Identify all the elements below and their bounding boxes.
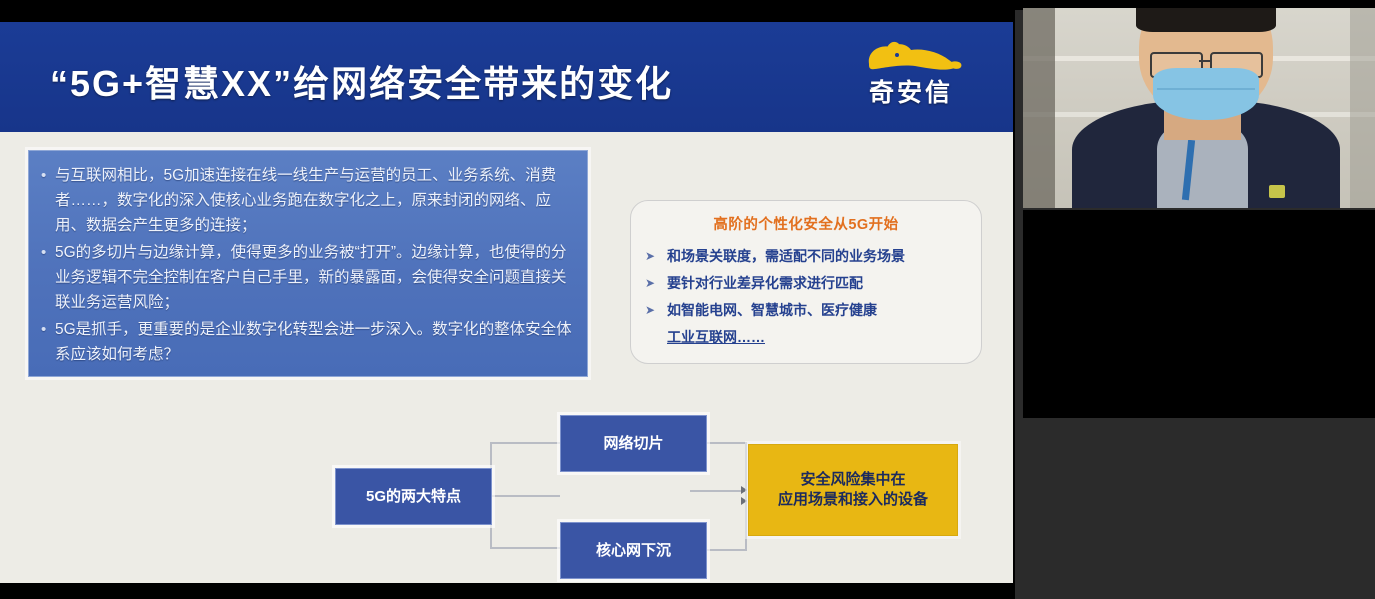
face-mask — [1153, 68, 1259, 120]
flow-node-root: 5G的两大特点 — [335, 468, 492, 525]
connector-line — [490, 442, 562, 444]
video-participants-panel — [1015, 0, 1375, 599]
participant-video-tile[interactable] — [1023, 8, 1375, 208]
text-block-bullet: • 5G是抓手，更重要的是企业数字化转型会进一步深入。数字化的整体安全体系应该如… — [41, 317, 573, 367]
arrowhead-icon — [741, 486, 747, 494]
info-card-item: ➤ 和场景关联度，需适配不同的业务场景 — [645, 243, 967, 270]
connector-line — [490, 547, 562, 549]
text-block-bullet: • 5G的多切片与边缘计算，使得更多的业务被“打开”。边缘计算，也使得的分业务逻… — [41, 240, 573, 315]
person-badge — [1269, 185, 1285, 198]
slide-flowchart: 5G的两大特点 网络切片 核心网下沉 安全风险集中在 应用场景和接入的设备 — [0, 402, 1013, 583]
connector-line — [490, 495, 560, 497]
company-logo: 奇安信 — [851, 34, 971, 126]
face-mask-fold — [1157, 88, 1256, 90]
meeting-screen: “5G+智慧XX”给网络安全带来的变化 奇安信 • 与互联网相比，5G加速连接在… — [0, 0, 1375, 599]
slide-header-bar: “5G+智慧XX”给网络安全带来的变化 奇安信 — [0, 22, 1013, 132]
flow-node-network-slicing: 网络切片 — [560, 415, 707, 472]
info-card: 高阶的个性化安全从5G开始 ➤ 和场景关联度，需适配不同的业务场景 ➤ 要针对行… — [630, 200, 982, 364]
info-card-item: ➤ 要针对行业差异化需求进行匹配 — [645, 270, 967, 297]
arrow-right-icon: ➤ — [645, 270, 667, 297]
arrowhead-icon — [741, 497, 747, 505]
mascot-icon — [857, 38, 965, 78]
presentation-slide: “5G+智慧XX”给网络安全带来的变化 奇安信 • 与互联网相比，5G加速连接在… — [0, 22, 1013, 583]
bullet-text: 5G的多切片与边缘计算，使得更多的业务被“打开”。边缘计算，也使得的分业务逻辑不… — [55, 240, 573, 315]
bullet-dot-icon: • — [41, 163, 55, 238]
slide-text-block: • 与互联网相比，5G加速连接在线一线生产与运营的员工、业务系统、消费者……，数… — [28, 150, 588, 377]
slide-title: “5G+智慧XX”给网络安全带来的变化 — [50, 55, 673, 107]
info-card-title: 高阶的个性化安全从5G开始 — [645, 213, 967, 234]
arrow-right-icon: ➤ — [645, 243, 667, 270]
info-card-item-text: 如智能电网、智慧城市、医疗健康 — [667, 297, 967, 324]
webcam-feed — [1023, 8, 1375, 208]
risk-line-1: 安全风险集中在 — [778, 470, 928, 490]
flow-node-risk-result: 安全风险集中在 应用场景和接入的设备 — [748, 444, 958, 536]
logo-brand-text: 奇安信 — [851, 78, 971, 108]
bullet-dot-icon: • — [41, 317, 55, 367]
bullet-text: 与互联网相比，5G加速连接在线一线生产与运营的员工、业务系统、消费者……，数字化… — [55, 163, 573, 238]
room-edge-right — [1350, 8, 1375, 208]
info-card-item-text: 和场景关联度，需适配不同的业务场景 — [667, 243, 967, 270]
glasses-bridge — [1199, 60, 1210, 62]
info-card-item: ➤ 如智能电网、智慧城市、医疗健康 — [645, 297, 967, 324]
connector-line — [705, 549, 747, 551]
person-hair — [1136, 8, 1277, 32]
bullet-dot-icon: • — [41, 240, 55, 315]
risk-line-2: 应用场景和接入的设备 — [778, 490, 928, 510]
participant-video-tile-empty[interactable] — [1023, 210, 1375, 418]
info-card-subitem: 工业互联网…… — [645, 324, 967, 350]
text-block-bullet: • 与互联网相比，5G加速连接在线一线生产与运营的员工、业务系统、消费者……，数… — [41, 163, 573, 238]
screen-share-region: “5G+智慧XX”给网络安全带来的变化 奇安信 • 与互联网相比，5G加速连接在… — [0, 0, 1015, 599]
panel-empty-area — [1015, 418, 1375, 599]
info-card-item-text: 要针对行业差异化需求进行匹配 — [667, 270, 967, 297]
arrow-right-icon: ➤ — [645, 297, 667, 324]
connector-line — [690, 490, 747, 492]
connector-line — [705, 442, 747, 444]
flow-node-core-network-sinking: 核心网下沉 — [560, 522, 707, 579]
room-edge-left — [1023, 8, 1055, 208]
bullet-text: 5G是抓手，更重要的是企业数字化转型会进一步深入。数字化的整体安全体系应该如何考… — [55, 317, 573, 367]
